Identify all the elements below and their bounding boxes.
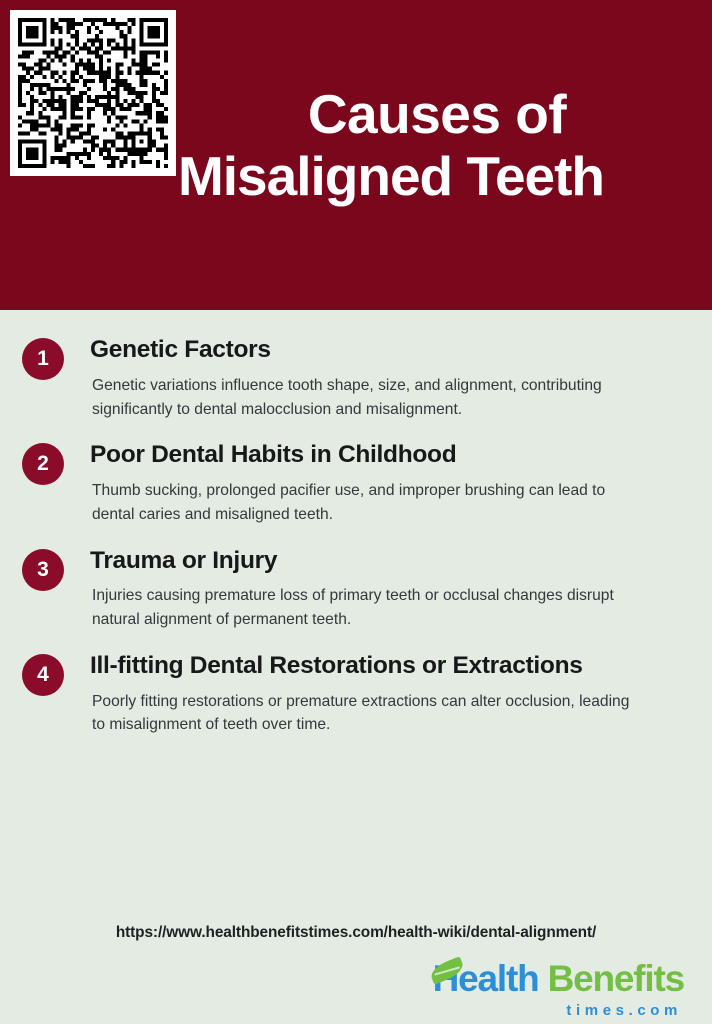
poster-footer: https://www.healthbenefitstimes.com/heal… [0, 912, 712, 1024]
list-item-title: Trauma or Injury [90, 547, 690, 576]
list-item: 3 Trauma or Injury Injuries causing prem… [22, 547, 690, 632]
causes-list: 1 Genetic Factors Genetic variations inf… [0, 310, 712, 737]
list-item: 1 Genetic Factors Genetic variations inf… [22, 336, 690, 421]
list-item-description: Thumb sucking, prolonged pacifier use, a… [90, 479, 642, 526]
page-title-line-2: Misaligned Teeth [178, 146, 604, 208]
site-logo-tagline: times.com [416, 1002, 684, 1019]
list-item-body: Trauma or Injury Injuries causing premat… [64, 547, 690, 632]
item-number-badge: 3 [22, 549, 64, 591]
site-logo-wordmark: Health Benefits [416, 960, 684, 997]
source-url-link[interactable]: https://www.healthbenefitstimes.com/heal… [0, 924, 712, 942]
page-title: Causes of Misaligned Teeth [176, 0, 712, 310]
list-item: 4 Ill-fitting Dental Restorations or Ext… [22, 652, 690, 737]
list-item-description: Injuries causing premature loss of prima… [90, 584, 642, 631]
infographic-poster: Causes of Misaligned Teeth 1 Genetic Fac… [0, 0, 712, 1024]
list-item-body: Ill-fitting Dental Restorations or Extra… [64, 652, 690, 737]
qr-code-icon[interactable] [10, 10, 176, 176]
item-number-badge: 4 [22, 654, 64, 696]
site-logo[interactable]: Health Benefits times.com [416, 960, 684, 1018]
list-item-description: Poorly fitting restorations or premature… [90, 690, 642, 737]
list-item-body: Poor Dental Habits in Childhood Thumb su… [64, 441, 690, 526]
list-item-description: Genetic variations influence tooth shape… [90, 374, 642, 421]
site-logo-word-two: Benefits [548, 958, 684, 999]
list-item-title: Ill-fitting Dental Restorations or Extra… [90, 652, 690, 681]
page-title-line-1: Causes of [308, 84, 566, 146]
list-item: 2 Poor Dental Habits in Childhood Thumb … [22, 441, 690, 526]
item-number-badge: 2 [22, 443, 64, 485]
item-number-badge: 1 [22, 338, 64, 380]
list-item-title: Poor Dental Habits in Childhood [90, 441, 690, 470]
list-item-title: Genetic Factors [90, 336, 690, 365]
list-item-body: Genetic Factors Genetic variations influ… [64, 336, 690, 421]
poster-header: Causes of Misaligned Teeth [0, 0, 712, 310]
qr-code-canvas [18, 18, 168, 168]
